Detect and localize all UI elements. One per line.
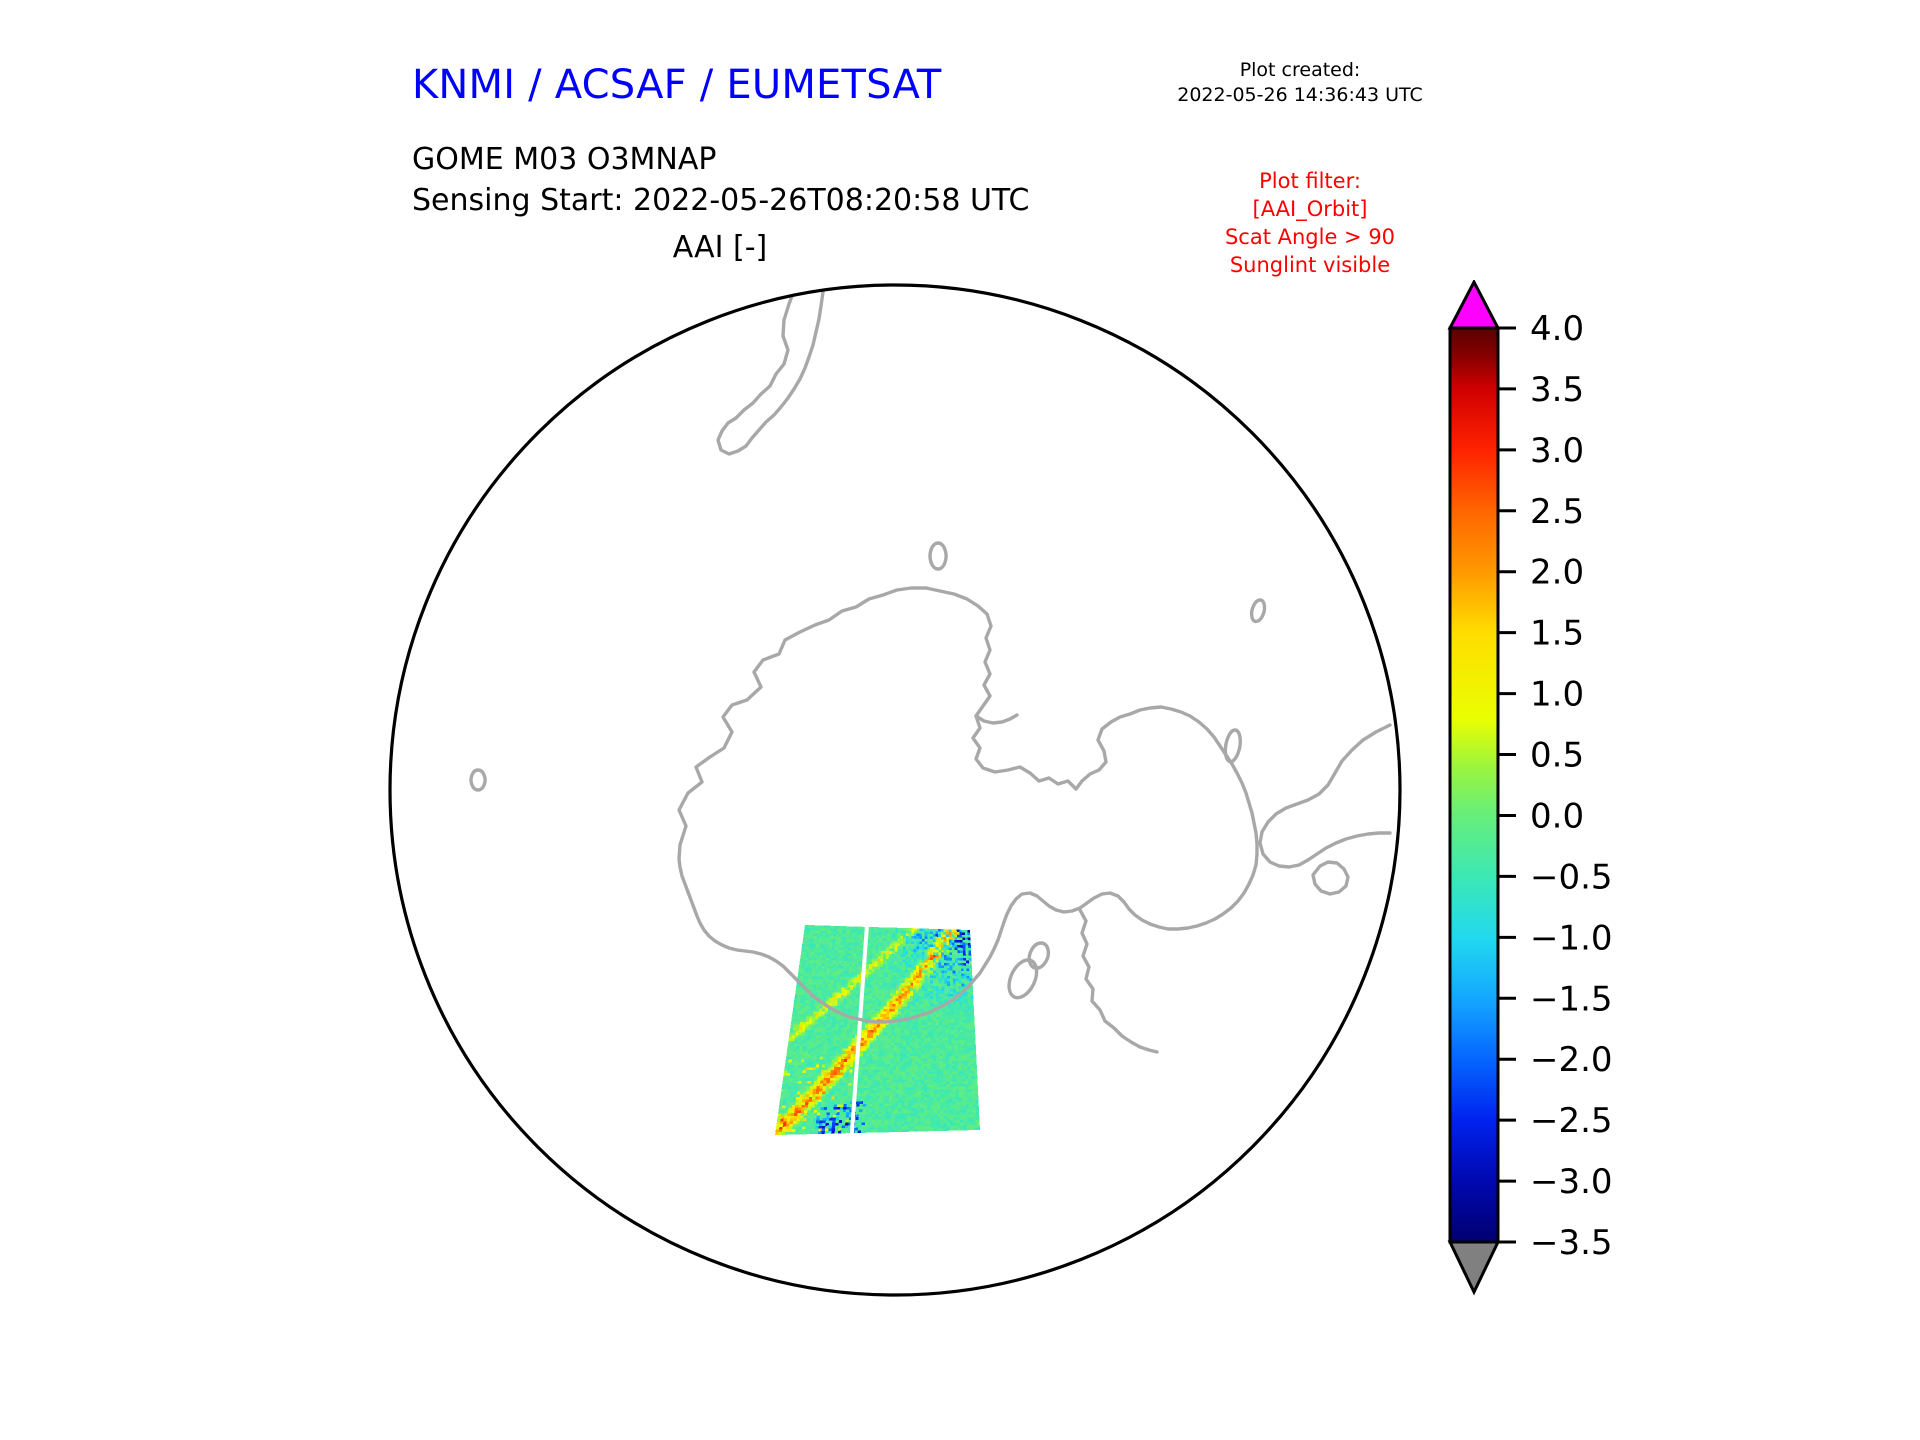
swath-cell	[966, 956, 969, 959]
swath-cell	[956, 1097, 959, 1100]
swath-cell	[891, 1116, 894, 1119]
swath-cell	[851, 945, 854, 948]
swath-cell	[837, 971, 840, 974]
swath-cell	[832, 1126, 836, 1129]
swath-cell	[966, 1120, 969, 1123]
swath-cell	[956, 989, 959, 992]
swath-cell	[895, 1114, 898, 1117]
swath-cell	[939, 1027, 942, 1030]
swath-cell	[902, 1088, 905, 1091]
swath-cell	[809, 1070, 812, 1073]
swath-cell	[834, 1070, 837, 1073]
swath-cell	[836, 1118, 840, 1121]
swath-cell	[905, 978, 908, 981]
swath-cell	[971, 1010, 974, 1013]
swath-cell	[937, 1061, 940, 1064]
swath-cell	[823, 998, 826, 1001]
swath-cell	[895, 1111, 898, 1114]
swath-cell	[853, 990, 856, 993]
swath-cell	[933, 1033, 936, 1036]
swath-cell	[841, 1062, 844, 1065]
swath-cell	[839, 1112, 843, 1115]
swath-cell	[782, 1127, 786, 1130]
swath-cell	[919, 947, 922, 950]
swath-cell	[902, 1085, 905, 1088]
swath-cell	[830, 1078, 833, 1081]
swath-cell	[840, 1038, 843, 1041]
swath-cell	[781, 1113, 785, 1116]
swath-cell	[906, 1059, 909, 1062]
swath-cell	[843, 1001, 846, 1004]
swath-cell	[952, 955, 955, 958]
swath-cell	[843, 948, 846, 951]
swath-cell	[876, 1090, 879, 1093]
swath-cell	[825, 1011, 828, 1014]
swath-cell	[801, 952, 804, 955]
swath-cell	[820, 1078, 823, 1081]
swath-cell	[841, 1054, 844, 1057]
swath-cell	[955, 971, 958, 974]
swath-cell	[877, 975, 880, 978]
swath-cell	[971, 1076, 974, 1079]
swath-cell	[790, 1027, 793, 1030]
swath-cell	[794, 1065, 798, 1068]
swath-cell	[916, 1009, 919, 1012]
swath-cell	[872, 1112, 875, 1115]
swath-cell	[961, 1061, 964, 1064]
swath-cell	[810, 1057, 813, 1060]
swath-cell	[849, 942, 852, 945]
swath-cell	[798, 1084, 802, 1087]
swath-cell	[865, 1075, 868, 1078]
swath-cell	[852, 1033, 855, 1036]
swath-cell	[852, 996, 855, 999]
swath-cell	[817, 933, 820, 936]
swath-cell	[942, 991, 945, 994]
tierra-del-fuego	[555, 348, 593, 385]
swath-cell	[924, 1022, 927, 1025]
swath-cell	[927, 963, 930, 966]
swath-cell	[899, 1090, 902, 1093]
swath-cell	[840, 977, 843, 980]
swath-cell	[885, 985, 888, 988]
swath-cell	[802, 1006, 805, 1009]
swath-cell	[803, 1121, 807, 1124]
swath-cell	[933, 937, 936, 940]
swath-cell	[841, 1131, 845, 1134]
swath-cell	[897, 1054, 900, 1057]
swath-cell	[827, 1049, 830, 1052]
swath-cell	[896, 991, 899, 994]
swath-cell	[969, 1110, 972, 1113]
swath-cell	[788, 1065, 792, 1068]
swath-cell	[822, 1062, 825, 1065]
swath-cell	[897, 946, 900, 949]
swath-cell	[905, 1103, 908, 1106]
swath-cell	[945, 1030, 948, 1033]
swath-cell	[846, 1109, 850, 1112]
swath-cell	[930, 989, 933, 992]
swath-cell	[891, 1119, 894, 1122]
swath-cell	[809, 1091, 813, 1094]
swath-cell	[893, 933, 896, 936]
swath-cell	[895, 1116, 898, 1119]
swath-cell	[796, 1009, 799, 1012]
swath-cell	[839, 926, 842, 929]
swath-cell	[948, 1020, 951, 1023]
swath-cell	[836, 1075, 839, 1078]
swath-cell	[802, 941, 805, 944]
swath-cell	[900, 965, 903, 968]
swath-cell	[918, 1103, 921, 1106]
swath-cell	[844, 1096, 847, 1099]
swath-cell	[849, 996, 852, 999]
swath-cell	[824, 1075, 827, 1078]
swath-cell	[905, 1093, 908, 1096]
swath-cell	[893, 1001, 896, 1004]
swath-cell	[884, 1067, 887, 1070]
swath-cell	[801, 1086, 805, 1089]
swath-cell	[813, 1009, 816, 1012]
swath-cell	[960, 1033, 963, 1036]
swath-cell	[792, 1033, 795, 1036]
swath-cell	[818, 1070, 821, 1073]
swath-cell	[958, 971, 961, 974]
swath-cell	[957, 1033, 960, 1036]
swath-cell	[948, 1012, 951, 1015]
swath-cell	[930, 963, 933, 966]
swath-cell	[900, 1046, 903, 1049]
swath-cell	[895, 1006, 898, 1009]
swath-cell	[927, 1061, 930, 1064]
swath-cell	[806, 1046, 809, 1049]
swath-cell	[815, 1073, 818, 1076]
swath-cell	[814, 979, 817, 982]
swath-cell	[945, 994, 948, 997]
swath-cell	[808, 1076, 812, 1079]
swath-cell	[933, 1035, 936, 1038]
swath-cell	[927, 1126, 930, 1129]
swath-cell	[922, 991, 925, 994]
swath-cell	[815, 1019, 818, 1022]
swath-cell	[937, 1071, 940, 1074]
swath-cell	[821, 1102, 825, 1105]
swath-cell	[880, 1027, 883, 1030]
swath-cell	[831, 1067, 834, 1070]
swath-cell	[840, 1104, 843, 1107]
swath-cell	[903, 1033, 906, 1036]
swath-cell	[898, 1093, 901, 1096]
swath-cell	[846, 1070, 849, 1073]
swath-cell	[890, 1072, 893, 1075]
swath-cell	[808, 1051, 811, 1054]
swath-cell	[896, 980, 899, 983]
swath-cell	[865, 1025, 868, 1028]
swath-cell	[860, 1049, 863, 1052]
swath-cell	[944, 986, 947, 989]
swath-cell	[836, 1120, 840, 1123]
swath-cell	[892, 1004, 895, 1007]
swath-cell	[894, 1119, 897, 1122]
swath-cell	[909, 931, 912, 934]
swath-cell	[891, 972, 894, 975]
swath-cell	[914, 1098, 917, 1101]
swath-cell	[942, 994, 945, 997]
swath-cell	[841, 1059, 844, 1062]
swath-cell	[940, 1108, 943, 1111]
swath-cell	[806, 974, 809, 977]
swath-cell	[873, 1088, 876, 1091]
swath-cell	[872, 1104, 875, 1107]
swath-cell	[870, 951, 873, 954]
swath-cell	[822, 979, 825, 982]
swath-cell	[933, 1074, 936, 1077]
swath-cell	[933, 999, 936, 1002]
swath-cell	[882, 933, 885, 936]
swath-cell	[927, 1108, 930, 1111]
swath-cell	[895, 1088, 898, 1091]
swath-cell	[892, 1095, 895, 1098]
swath-cell	[820, 955, 823, 958]
swath-cell	[837, 1070, 840, 1073]
swath-cell	[936, 952, 939, 955]
swath-cell	[850, 1057, 853, 1060]
swath-cell	[794, 1041, 797, 1044]
swath-cell	[808, 984, 811, 987]
swath-cell	[868, 1025, 871, 1028]
swath-cell	[933, 1064, 936, 1067]
swath-cell	[901, 1116, 904, 1119]
swath-cell	[963, 1110, 966, 1113]
swath-cell	[911, 1100, 914, 1103]
swath-cell	[925, 929, 928, 932]
swath-cell	[869, 1012, 872, 1015]
swath-cell	[905, 962, 908, 965]
swath-cell	[924, 1077, 927, 1080]
swath-cell	[885, 1033, 888, 1036]
swath-cell	[938, 958, 941, 961]
swath-cell	[958, 973, 961, 976]
swath-cell	[831, 1102, 834, 1105]
swath-cell	[866, 1109, 869, 1112]
swath-cell	[974, 1074, 977, 1077]
swath-cell	[914, 936, 917, 939]
swath-cell	[904, 1014, 907, 1017]
swath-cell	[832, 1054, 835, 1057]
swath-cell	[912, 1077, 915, 1080]
swath-cell	[941, 965, 944, 968]
swath-cell	[881, 993, 884, 996]
swath-cell	[902, 1082, 905, 1085]
swath-cell	[799, 1027, 802, 1030]
swath-cell	[946, 1079, 949, 1082]
swath-cell	[919, 968, 922, 971]
swath-cell	[954, 1038, 957, 1041]
swath-cell	[905, 970, 908, 973]
swath-cell	[801, 1033, 804, 1036]
swath-cell	[876, 1043, 879, 1046]
swath-cell	[919, 1001, 922, 1004]
swath-cell	[915, 1048, 918, 1051]
swath-cell	[880, 962, 883, 965]
swath-cell	[943, 1089, 946, 1092]
swath-cell	[913, 970, 916, 973]
swath-cell	[825, 1091, 829, 1094]
swath-cell	[875, 1051, 878, 1054]
swath-cell	[854, 1009, 857, 1012]
swath-cell	[969, 968, 972, 971]
swath-cell	[861, 929, 864, 932]
swath-cell	[892, 957, 895, 960]
swath-cell	[870, 993, 873, 996]
swath-cell	[829, 1115, 833, 1118]
swath-cell	[975, 1086, 978, 1089]
swath-cell	[916, 949, 919, 952]
swath-cell	[813, 966, 816, 969]
swath-cell	[779, 1130, 783, 1133]
swath-cell	[888, 1124, 891, 1127]
swath-cell	[936, 1038, 939, 1041]
swath-cell	[933, 950, 936, 953]
swath-cell	[835, 1086, 838, 1089]
plot-filter-line-2: Scat Angle > 90	[1180, 224, 1440, 252]
swath-cell	[816, 1035, 819, 1038]
swath-cell	[806, 1124, 810, 1127]
swath-cell	[898, 1106, 901, 1109]
swath-cell	[814, 1110, 818, 1113]
swath-cell	[893, 1059, 896, 1062]
swath-cell	[848, 948, 851, 951]
swath-cell	[824, 1070, 827, 1073]
swath-cell	[922, 1001, 925, 1004]
swath-cell	[795, 990, 798, 993]
swath-cell	[889, 1009, 892, 1012]
swath-cell	[965, 945, 968, 948]
swath-cell	[826, 1089, 829, 1092]
swath-cell	[952, 1082, 955, 1085]
swath-cell	[954, 937, 957, 940]
swath-cell	[790, 1116, 794, 1119]
swath-cell	[930, 1116, 933, 1119]
swath-cell	[921, 1072, 924, 1075]
swath-cell	[956, 1007, 959, 1010]
swath-cell	[860, 1051, 863, 1054]
swath-cell	[952, 968, 955, 971]
swath-cell	[880, 1014, 883, 1017]
swath-cell	[812, 1019, 815, 1022]
swath-cell	[885, 1043, 888, 1046]
swath-cell	[792, 1100, 796, 1103]
swath-cell	[786, 1127, 790, 1130]
swath-cell	[946, 1053, 949, 1056]
swath-cell	[810, 1062, 813, 1065]
swath-cell	[847, 996, 850, 999]
swath-cell	[809, 952, 812, 955]
swath-cell	[810, 1033, 813, 1036]
swath-cell	[968, 1084, 971, 1087]
swath-cell	[868, 975, 871, 978]
swath-cell	[775, 1130, 779, 1133]
swath-cell	[946, 932, 949, 935]
swath-cell	[885, 927, 888, 930]
swath-cell	[821, 1073, 824, 1076]
swath-cell	[933, 1061, 936, 1064]
swath-cell	[961, 1051, 964, 1054]
swath-cell	[899, 1067, 902, 1070]
swath-cell	[866, 1006, 869, 1009]
swath-cell	[949, 950, 952, 953]
swath-cell	[875, 1012, 878, 1015]
swath-cell	[837, 950, 840, 953]
swath-cell	[924, 1051, 927, 1054]
swath-cell	[838, 1022, 841, 1025]
swath-cell	[906, 931, 909, 934]
swath-cell	[951, 1030, 954, 1033]
swath-cell	[884, 1127, 887, 1130]
swath-cell	[919, 999, 922, 1002]
colorbar-tick-label: −1.5	[1530, 979, 1613, 1019]
swath-cell	[883, 1014, 886, 1017]
swath-cell	[850, 988, 853, 991]
swath-cell	[886, 1093, 889, 1096]
swath-cell	[899, 975, 902, 978]
swath-cell	[824, 1019, 827, 1022]
swath-cell	[915, 1043, 918, 1046]
swath-cell	[893, 1061, 896, 1064]
swath-cell	[952, 1058, 955, 1061]
swath-cell	[850, 1025, 853, 1028]
swath-cell	[958, 1053, 961, 1056]
swath-cell	[844, 1057, 847, 1060]
swath-cell	[830, 939, 833, 942]
swath-cell	[827, 966, 830, 969]
swath-cell	[914, 931, 917, 934]
swath-cell	[842, 980, 845, 983]
swath-cell	[916, 970, 919, 973]
colorbar-under-arrow	[1450, 1242, 1498, 1292]
swath-cell	[829, 974, 832, 977]
swath-cell	[974, 1079, 977, 1082]
swath-cell	[794, 1092, 798, 1095]
swath-cell	[966, 1020, 969, 1023]
swath-cell	[913, 999, 916, 1002]
swath-cell	[934, 1079, 937, 1082]
swath-cell	[946, 1100, 949, 1103]
swath-cell	[813, 1089, 817, 1092]
swath-cell	[954, 940, 957, 943]
swath-cell	[829, 1118, 833, 1121]
swath-cell	[911, 947, 914, 950]
swath-cell	[858, 961, 861, 964]
swath-cell	[796, 1027, 799, 1030]
swath-cell	[937, 1113, 940, 1116]
swath-cell	[808, 1131, 812, 1134]
swath-cell	[868, 980, 871, 983]
swath-cell	[954, 942, 957, 945]
swath-cell	[843, 1070, 846, 1073]
swath-cell	[919, 1004, 922, 1007]
swath-cell	[919, 952, 922, 955]
swath-cell	[899, 988, 902, 991]
swath-cell	[919, 965, 922, 968]
swath-cell	[832, 945, 835, 948]
swath-cell	[897, 967, 900, 970]
swath-cell	[842, 1051, 845, 1054]
swath-cell	[899, 1061, 902, 1064]
swath-cell	[795, 1054, 798, 1057]
swath-cell	[878, 1062, 881, 1065]
swath-cell	[964, 1056, 967, 1059]
